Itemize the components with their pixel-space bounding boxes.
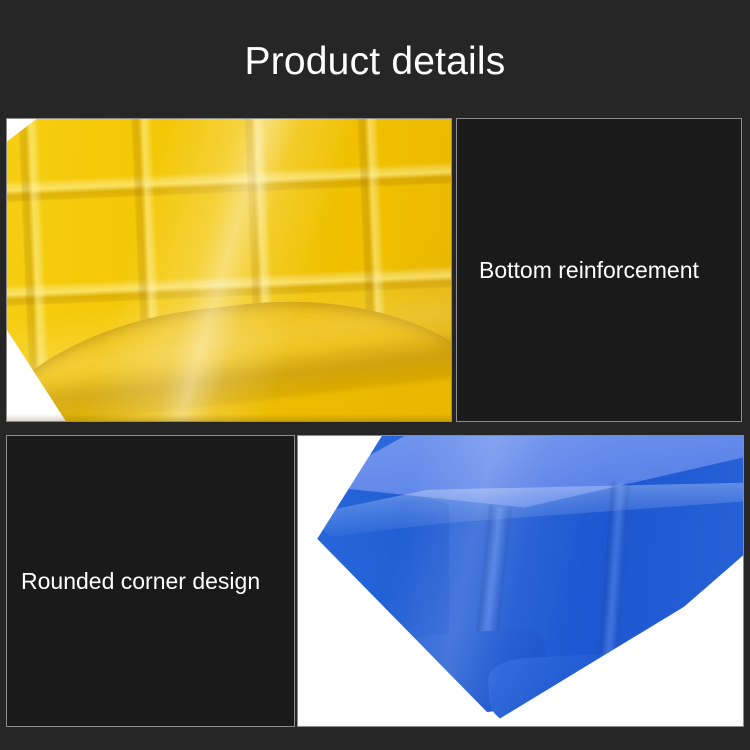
caption-label-bottom-reinforcement: Bottom reinforcement bbox=[479, 255, 699, 285]
caption-panel-rounded-corner-design: Rounded corner design bbox=[6, 435, 295, 727]
yellow-bottom-shading bbox=[7, 414, 451, 421]
yellow-crate-bottom-photo bbox=[6, 118, 452, 422]
caption-panel-bottom-reinforcement: Bottom reinforcement bbox=[456, 118, 742, 422]
blue-crate-corner-photo bbox=[297, 435, 744, 727]
page-title: Product details bbox=[0, 38, 750, 86]
blue-photo-canvas bbox=[298, 436, 743, 726]
yellow-photo-canvas bbox=[7, 119, 451, 421]
caption-label-rounded-corner-design: Rounded corner design bbox=[21, 566, 260, 596]
